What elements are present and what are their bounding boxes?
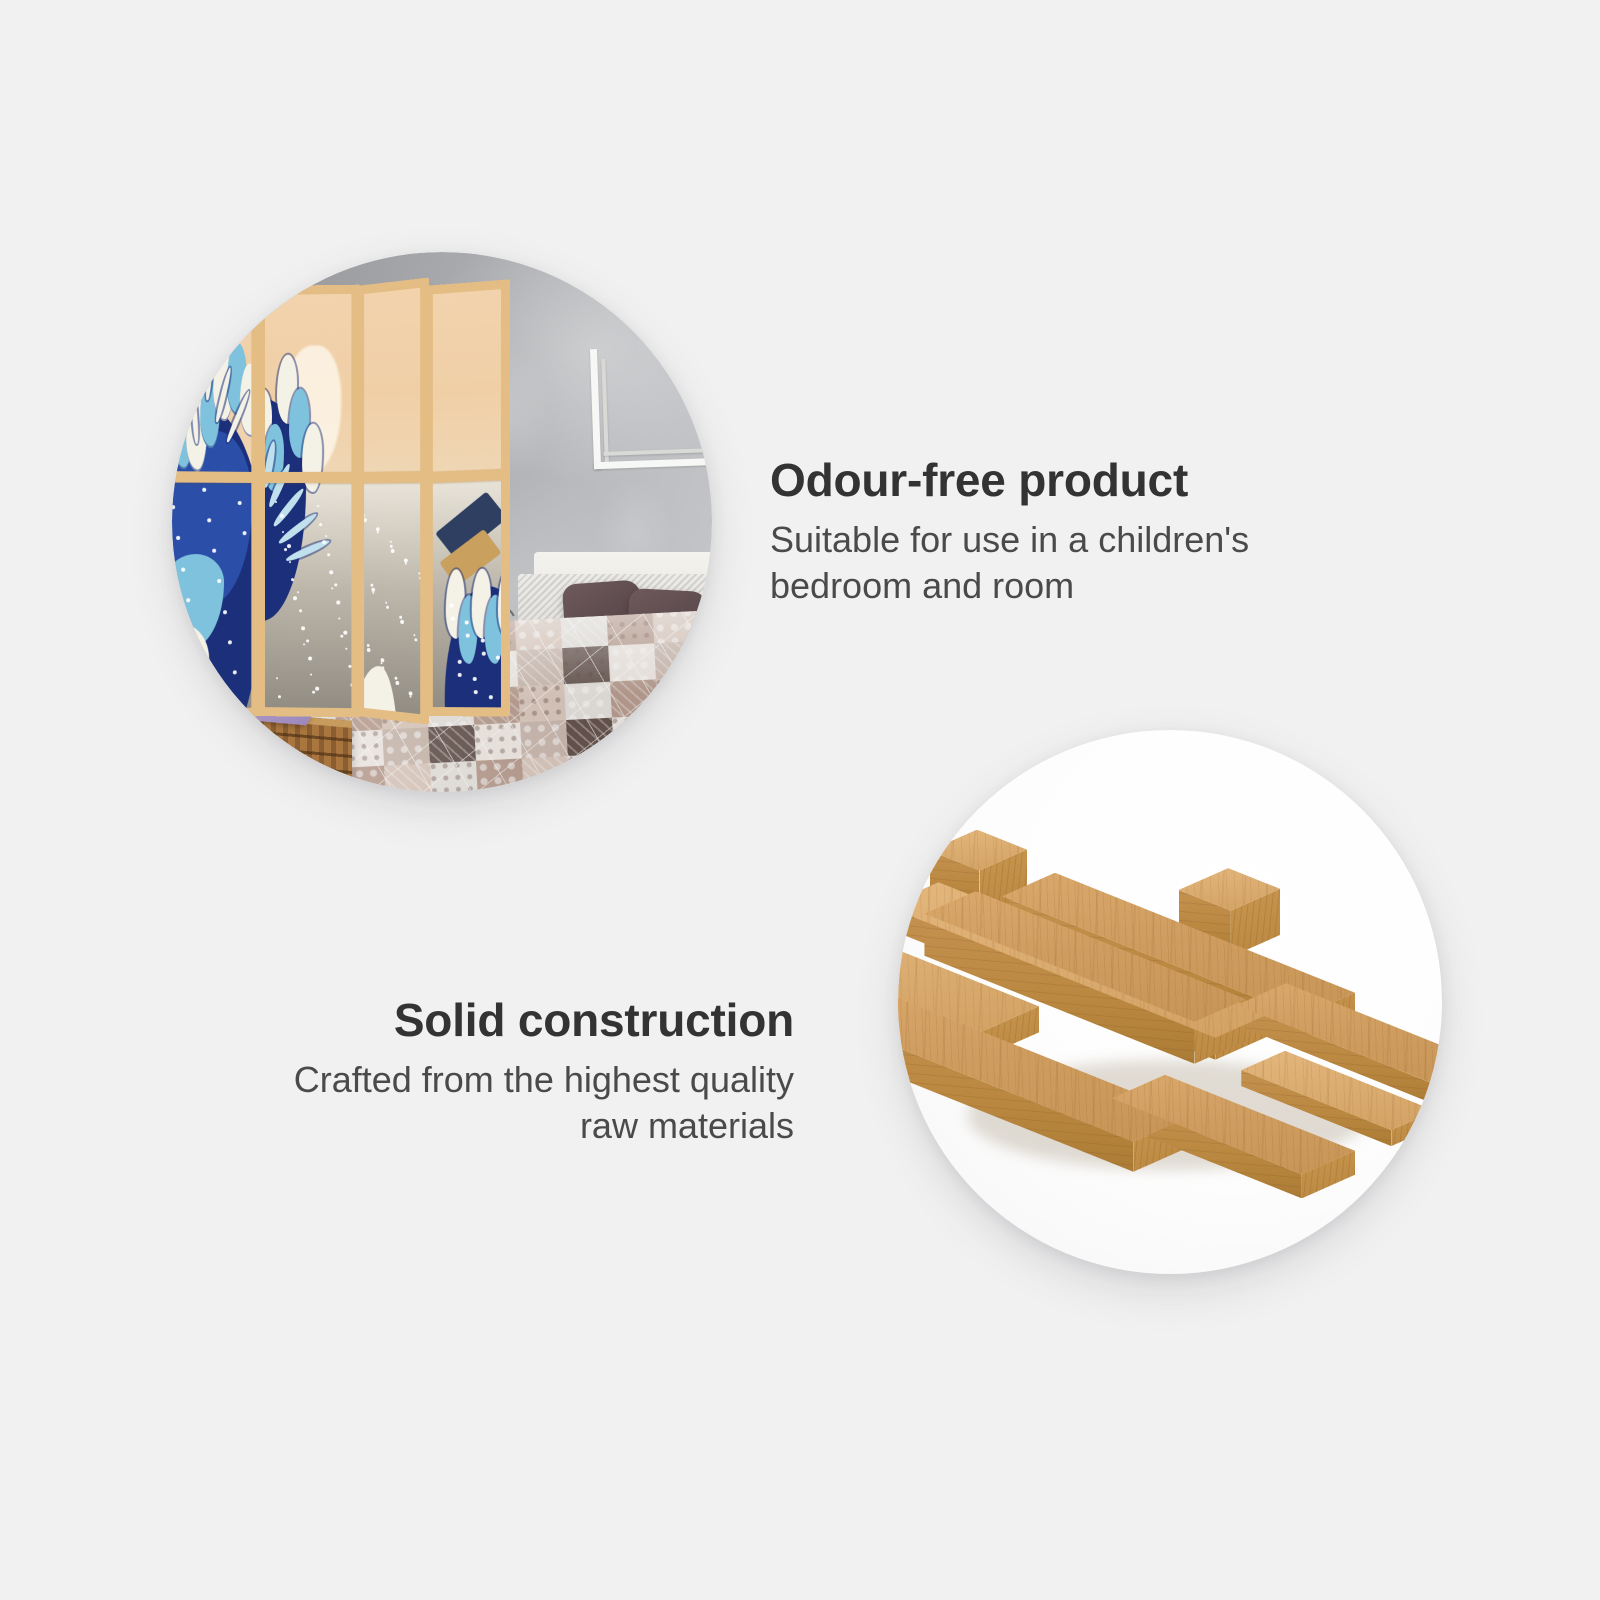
odour-free-title: Odour-free product	[770, 455, 1290, 507]
feature-graphic-canvas: Odour-free product Suitable for use in a…	[0, 0, 1600, 1600]
bedroom-feature-image	[172, 252, 712, 792]
solid-construction-subtitle-line-2: raw materials	[580, 1105, 794, 1146]
screen-panel-3	[356, 278, 429, 725]
screen-panel-2	[256, 285, 360, 718]
screen-panel-4	[424, 279, 510, 716]
bedroom-image-clip	[172, 252, 712, 792]
panel-1-artwork	[172, 279, 260, 723]
stacked-wooden-planks	[898, 730, 1442, 1274]
wall-picture-frame	[590, 345, 712, 469]
solid-construction-feature-image	[898, 730, 1442, 1274]
panel-2-artwork	[256, 285, 360, 718]
panel-4-artwork	[424, 279, 510, 716]
solid-construction-subtitle-line-1: Crafted from the highest quality	[294, 1059, 794, 1100]
wood-image-clip	[898, 730, 1442, 1274]
solid-construction-title: Solid construction	[260, 995, 794, 1047]
solid-construction-text-block: Solid construction Crafted from the high…	[260, 995, 794, 1150]
odour-free-subtitle-line-1: Suitable for use in a children's	[770, 519, 1249, 560]
odour-free-text-block: Odour-free product Suitable for use in a…	[770, 455, 1290, 610]
solid-construction-subtitle: Crafted from the highest quality raw mat…	[260, 1057, 794, 1151]
screen-panel-1	[172, 279, 260, 723]
panel-3-artwork	[356, 278, 429, 725]
folding-room-divider	[172, 286, 514, 716]
odour-free-subtitle: Suitable for use in a children's bedroom…	[770, 517, 1290, 611]
odour-free-subtitle-line-2: bedroom and room	[770, 565, 1074, 606]
